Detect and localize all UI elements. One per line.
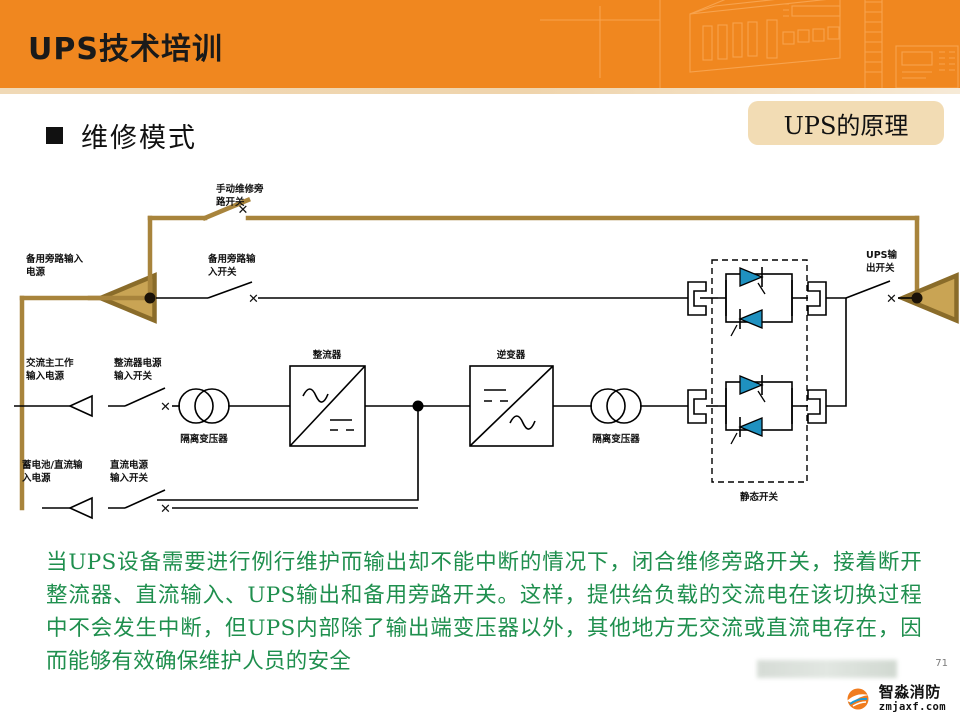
- section-heading: 维修模式: [46, 116, 197, 155]
- svg-text:直流电源: 直流电源: [110, 459, 149, 471]
- ups-output-switch-blade: [846, 281, 890, 298]
- dc-bus-drop: [157, 406, 418, 500]
- battery-dc-input-line: [42, 490, 418, 508]
- label-ups-output-switch: UPS输 出开关: [866, 249, 898, 274]
- standby-bypass-switch-blade: [208, 282, 252, 298]
- maintenance-bypass-path: [22, 200, 952, 508]
- explanation-paragraph: 当UPS设备需要进行例行维护而输出却不能中断的情况下，闭合维修旁路开关，接着断开…: [46, 546, 922, 678]
- rectifier-input-switch-cross: ✕: [160, 400, 171, 415]
- ups-cabinet-lineart-icon: [540, 0, 960, 88]
- ac-source-terminal-icon: [70, 396, 92, 416]
- svg-text:出开关: 出开关: [866, 262, 895, 274]
- dc-input-switch-cross: ✕: [160, 502, 171, 517]
- static-switch-output-connector-top: [800, 282, 826, 315]
- dc-input-switch-blade: [125, 490, 165, 508]
- standby-bypass-line: [156, 282, 688, 298]
- logo-domain: zmjaxf.com: [879, 702, 946, 713]
- page-title: UPS技术培训: [28, 24, 223, 68]
- rectifier-icon: [290, 366, 365, 446]
- ac-main-input-line: [14, 388, 688, 406]
- section-heading-label: 维修模式: [81, 116, 197, 155]
- label-inverter: 逆变器: [497, 349, 526, 361]
- static-switch-input-connector-top: [688, 282, 718, 315]
- label-standby-bypass-source: 备用旁路输入 电源: [25, 253, 84, 278]
- static-switch-output-merge: [826, 281, 912, 406]
- static-switch-scr-pair-top: [718, 267, 800, 336]
- svg-text:蓄电池/直流输: 蓄电池/直流输: [22, 459, 83, 471]
- svg-text:入开关: 入开关: [207, 266, 237, 278]
- label-rectifier-input-switch: 整流器电源 输入开关: [113, 357, 162, 382]
- label-battery-dc-input-source: 蓄电池/直流输 入电源: [21, 459, 83, 484]
- svg-text:路开关: 路开关: [216, 196, 245, 208]
- label-isolation-transformer-output: 隔离变压器: [592, 433, 640, 445]
- svg-text:备用旁路输: 备用旁路输: [207, 253, 256, 265]
- label-dc-input-switch: 直流电源 输入开关: [110, 459, 149, 484]
- svg-text:整流器电源: 整流器电源: [113, 357, 162, 369]
- svg-text:输入电源: 输入电源: [26, 370, 65, 382]
- logo-text-block: 智淼消防 zmjaxf.com: [879, 685, 946, 713]
- watermark-blur: [757, 660, 897, 678]
- header-divider: [0, 88, 960, 94]
- label-rectifier: 整流器: [312, 349, 342, 361]
- slide-number: 71: [935, 658, 948, 669]
- zmjaxf-logo-icon: [843, 688, 873, 710]
- svg-text:输入开关: 输入开关: [114, 370, 153, 382]
- section-badge-label: UPS的原理: [784, 106, 909, 141]
- inverter-icon: [470, 366, 553, 446]
- svg-text:备用旁路输入: 备用旁路输入: [25, 253, 84, 265]
- ups-output-switch-cross: ✕: [886, 292, 897, 307]
- static-switch-output-connector-bottom: [800, 390, 826, 423]
- isolation-transformer-input-icon: [179, 389, 229, 423]
- isolation-transformer-output-icon: [591, 389, 641, 423]
- label-ac-main-input-source: 交流主工作 输入电源: [26, 357, 74, 382]
- label-static-switch: 静态开关: [740, 491, 779, 503]
- logo-company-name: 智淼消防: [879, 685, 946, 700]
- slide-root: UPS技术培训 UPS的原理 维修模式: [0, 0, 960, 720]
- svg-text:输入开关: 输入开关: [110, 472, 149, 484]
- output-bottom-run: [826, 298, 846, 406]
- svg-text:电源: 电源: [26, 266, 46, 278]
- label-standby-bypass-input-switch: 备用旁路输 入开关: [207, 253, 256, 278]
- static-switch-scr-pair-bottom: [718, 375, 800, 444]
- site-logo: 智淼消防 zmjaxf.com: [843, 683, 946, 715]
- svg-text:UPS输: UPS输: [866, 249, 898, 261]
- svg-text:交流主工作: 交流主工作: [26, 357, 74, 369]
- section-badge: UPS的原理: [748, 101, 944, 145]
- svg-text:手动维修旁: 手动维修旁: [216, 183, 264, 195]
- filled-square-bullet-icon: [46, 127, 63, 144]
- rectifier-input-switch-blade: [125, 388, 165, 406]
- label-isolation-transformer-input: 隔离变压器: [180, 433, 228, 445]
- slide-header: UPS技术培训: [0, 0, 960, 88]
- dc-source-terminal-icon: [70, 498, 92, 518]
- svg-text:入电源: 入电源: [21, 472, 51, 484]
- standby-bypass-switch-cross: ✕: [248, 292, 259, 307]
- label-manual-maintenance-bypass-switch: 手动维修旁 路开关: [216, 183, 264, 208]
- output-junction-node: [912, 293, 923, 304]
- ups-maintenance-mode-diagram: ✕ 手动维修旁 路开关 备用旁路输入 电源 ✕ 备用旁路输 入开关: [0, 170, 960, 530]
- bypass-junction-node: [145, 293, 156, 304]
- static-switch-input-connector-bottom: [688, 390, 718, 423]
